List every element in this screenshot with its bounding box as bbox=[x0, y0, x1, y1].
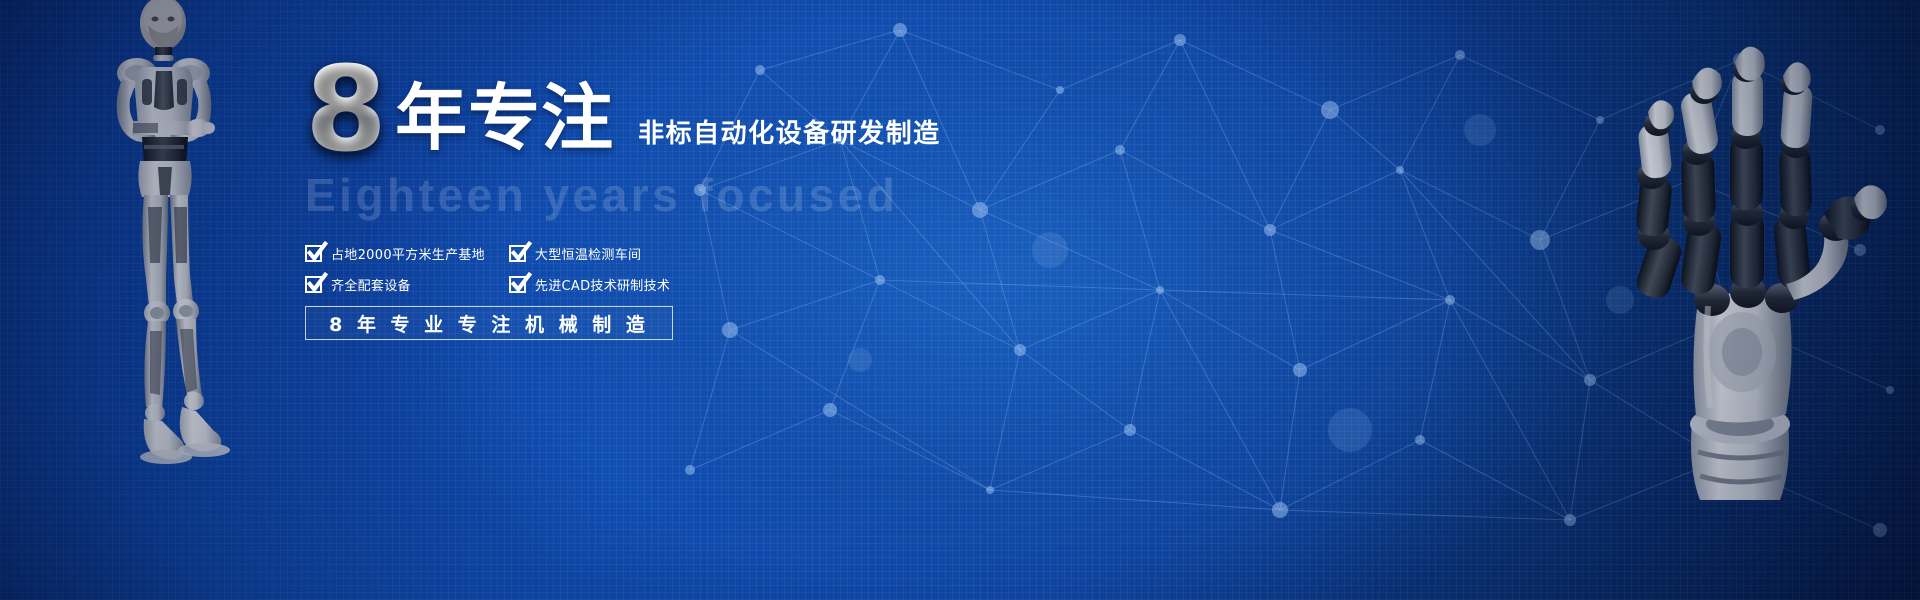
robotic-hand-image bbox=[1580, 0, 1910, 500]
feature-item: 齐全配套设备 bbox=[305, 275, 509, 294]
cta-banner-bar[interactable]: 8 年 专 业 专 注 机 械 制 造 bbox=[305, 306, 673, 340]
feature-label: 占地2000平方米生产基地 bbox=[331, 244, 485, 263]
feature-label: 大型恒温检测车间 bbox=[535, 244, 641, 263]
feature-label: 先进CAD技术研制技术 bbox=[535, 275, 670, 294]
feature-item: 大型恒温检测车间 bbox=[509, 244, 705, 263]
checkbox-checked-icon bbox=[305, 245, 322, 262]
banner-content: 8 年专注 非标自动化设备研发制造 Eighteen years focused… bbox=[305, 60, 1065, 340]
checkbox-checked-icon bbox=[509, 245, 526, 262]
headline-row: 8 年专注 非标自动化设备研发制造 bbox=[305, 60, 1065, 160]
feature-item: 先进CAD技术研制技术 bbox=[509, 275, 705, 294]
feature-row: 齐全配套设备 先进CAD技术研制技术 bbox=[305, 275, 705, 294]
feature-item: 占地2000平方米生产基地 bbox=[305, 244, 509, 263]
hero-banner: 8 年专注 非标自动化设备研发制造 Eighteen years focused… bbox=[0, 0, 1920, 600]
headline-number: 8 bbox=[305, 55, 395, 164]
headline-english-ghost: Eighteen years focused bbox=[305, 168, 1065, 222]
headline-subtitle: 非标自动化设备研发制造 bbox=[638, 113, 941, 150]
checkbox-checked-icon bbox=[305, 276, 322, 293]
cta-banner-text: 8 年 专 业 专 注 机 械 制 造 bbox=[329, 310, 649, 337]
headline-chinese: 年专注 bbox=[395, 82, 614, 154]
feature-row: 占地2000平方米生产基地 大型恒温检测车间 bbox=[305, 244, 705, 263]
feature-list: 占地2000平方米生产基地 大型恒温检测车间 齐全配套设备 bbox=[305, 244, 705, 294]
humanoid-robot-image bbox=[70, 0, 270, 485]
checkbox-checked-icon bbox=[509, 276, 526, 293]
feature-label: 齐全配套设备 bbox=[331, 275, 411, 294]
